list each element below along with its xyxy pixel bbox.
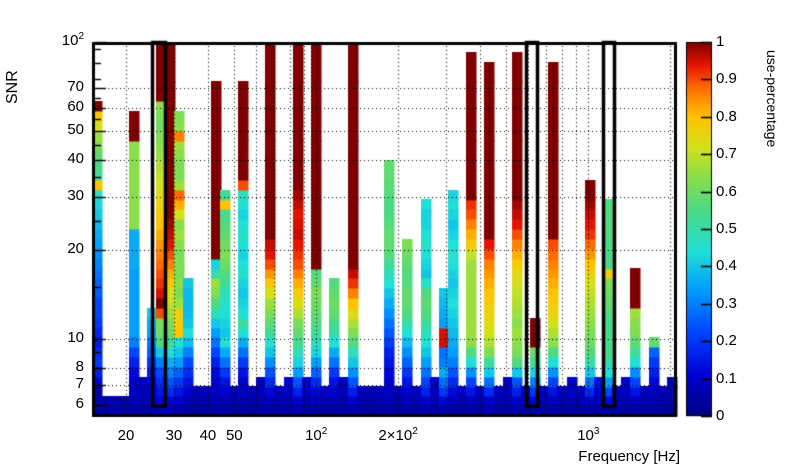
- y-tick-20: 20: [32, 240, 84, 257]
- y-tick-10: 10: [32, 329, 84, 346]
- z-tick-0: 0: [716, 407, 750, 424]
- y-tick-7: 7: [32, 375, 84, 392]
- x-axis-title: Frequency [Hz]: [420, 448, 680, 465]
- x-tick-50: 50: [202, 427, 266, 444]
- z-tick-0.2: 0.2: [716, 332, 750, 349]
- z-tick-0.3: 0.3: [716, 295, 750, 312]
- z-tick-0.7: 0.7: [716, 145, 750, 162]
- z-tick-0.8: 0.8: [716, 108, 750, 125]
- z-tick-0.5: 0.5: [716, 220, 750, 237]
- x-tick-10²: 102: [284, 427, 348, 444]
- z-axis-title: use-percentage: [760, 50, 782, 250]
- x-tick-2×10²: 2×102: [366, 427, 430, 444]
- z-tick-0.4: 0.4: [716, 257, 750, 274]
- y-tick-40: 40: [32, 150, 84, 167]
- z-tick-0.6: 0.6: [716, 183, 750, 200]
- y-tick-60: 60: [32, 98, 84, 115]
- y-tick-30: 30: [32, 187, 84, 204]
- z-tick-0.1: 0.1: [716, 370, 750, 387]
- y-tick-50: 50: [32, 121, 84, 138]
- z-tick-0.9: 0.9: [716, 70, 750, 87]
- plot-window: V1:LSC_SRCL_INPUT (clusters) SNR Frequen…: [0, 0, 805, 472]
- y-tick-70: 70: [32, 78, 84, 95]
- y-tick-10²: 102: [32, 32, 84, 49]
- y-tick-8: 8: [32, 358, 84, 375]
- x-tick-10³: 103: [556, 427, 620, 444]
- y-axis-title: SNR: [2, 42, 24, 132]
- z-tick-1: 1: [716, 33, 750, 50]
- y-tick-6: 6: [32, 395, 84, 412]
- histogram-canvas[interactable]: [0, 0, 805, 472]
